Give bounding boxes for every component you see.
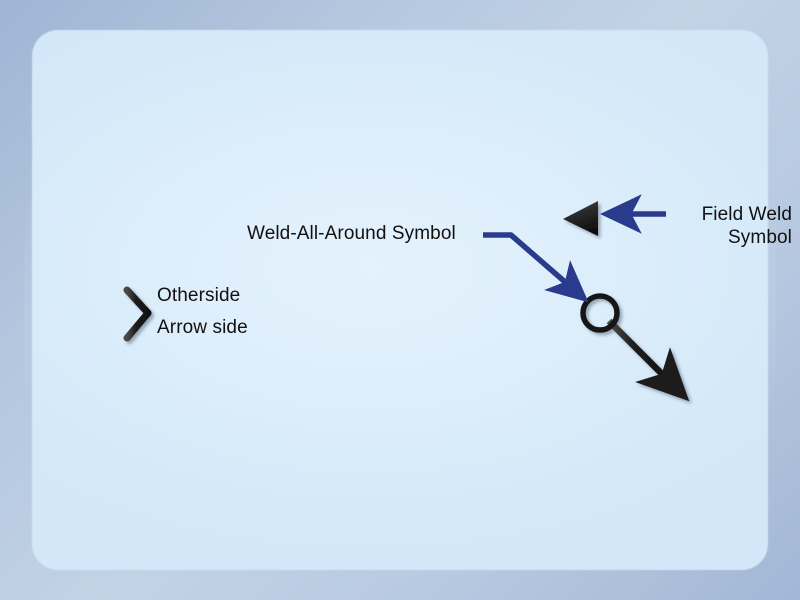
weld-all-around-callout-arrow [483, 235, 572, 288]
field-weld-label: Field WeldSymbol [600, 203, 792, 249]
welding-symbol-artwork [0, 0, 800, 600]
leader-arrow [609, 321, 670, 382]
diagram-canvas: Weld-All-Around Symbol Field WeldSymbol … [0, 0, 800, 600]
field-weld-label-line2: Symbol [728, 227, 792, 248]
weld-all-around-label: Weld-All-Around Symbol [247, 222, 456, 245]
field-weld-flag [563, 201, 598, 236]
otherside-label: Otherside [157, 284, 240, 307]
field-weld-label-line1: Field Weld [702, 204, 792, 225]
arrow-side-label: Arrow side [157, 316, 248, 339]
